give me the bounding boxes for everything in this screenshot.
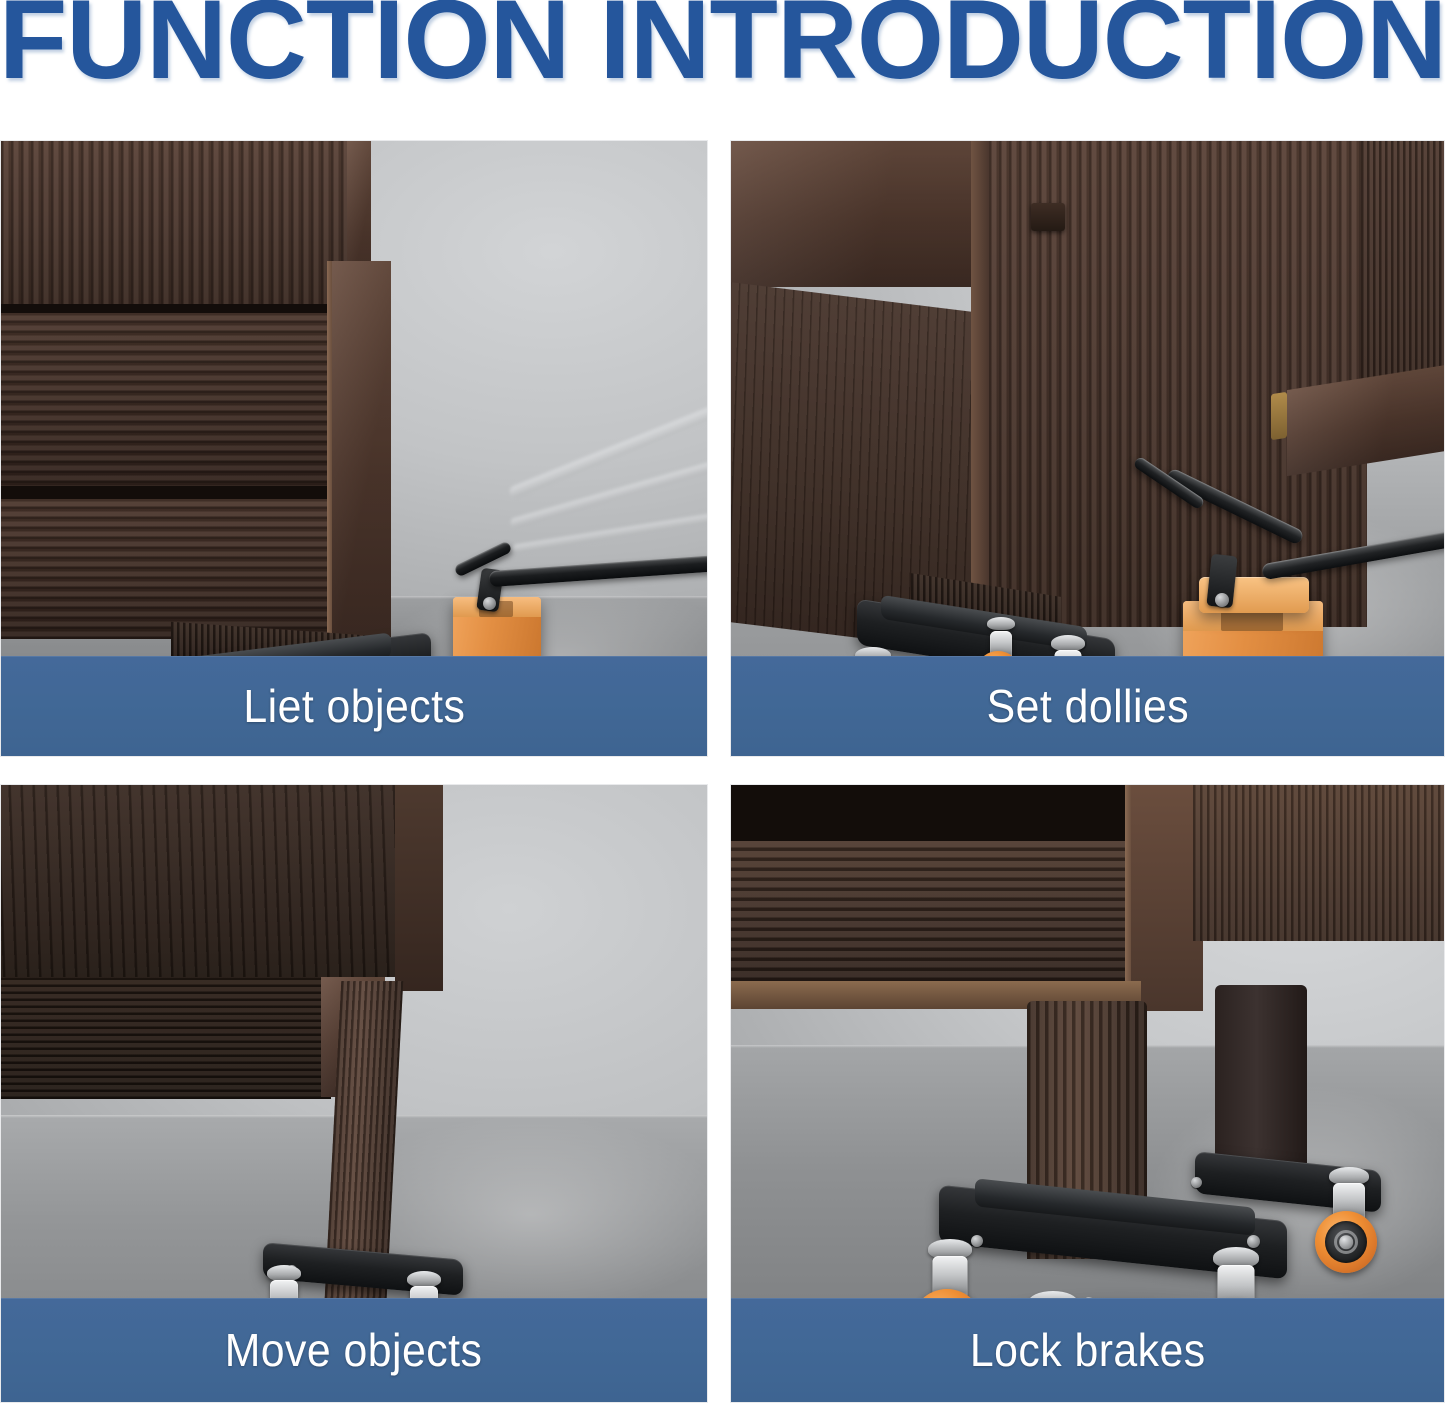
panel-set-dollies-caption: Set dollies (731, 656, 1444, 756)
cabinet-corner-edge (971, 141, 989, 633)
cabinet-right-edge (395, 785, 443, 991)
cabinet-brass-pull (1271, 392, 1287, 440)
cabinet-edge-highlight (1125, 785, 1131, 1013)
panel-move-objects[interactable]: Move objects (0, 784, 708, 1403)
pivot-bolt (483, 597, 496, 610)
caption-label: Lock brakes (970, 1323, 1206, 1377)
pivot-bolt (1215, 593, 1229, 607)
cabinet-top-panel (1, 785, 441, 977)
caption-label: Move objects (225, 1323, 483, 1377)
page-title: FUNCTION INTRODUCTION (0, 0, 1445, 96)
cabinet-drawer-lower (1, 499, 333, 639)
cabinet-corner-face (1129, 785, 1203, 1011)
caption-label: Liet objects (243, 679, 465, 733)
cabinet-apron-ribbed (1, 977, 331, 1099)
cabinet-top-panel (1, 141, 347, 309)
panel-grid: Liet objects (0, 140, 1445, 1403)
furniture-leg-rear (1215, 985, 1307, 1181)
panel-lift-objects[interactable]: Liet objects (0, 140, 708, 757)
cabinet-edge-highlight (327, 261, 332, 639)
cabinet-front-ribbed (731, 841, 1141, 991)
plate-screw (1191, 1177, 1202, 1188)
panel-lift-objects-caption: Liet objects (1, 656, 707, 756)
cabinet-right-face (1193, 785, 1444, 941)
cabinet-drawer-upper (1, 313, 329, 493)
cabinet-handle (1031, 203, 1065, 231)
caption-label: Set dollies (986, 679, 1188, 733)
cabinet-right-ribbed (1361, 141, 1444, 387)
panel-move-objects-caption: Move objects (1, 1298, 707, 1402)
page-header: FUNCTION INTRODUCTION (0, 0, 1445, 136)
panel-lock-brakes-caption: Lock brakes (731, 1298, 1444, 1402)
cabinet-left-top (731, 141, 989, 287)
panel-lock-brakes[interactable]: Lock brakes (730, 784, 1445, 1403)
caster-wheel (1313, 1173, 1385, 1277)
plate-screw (1247, 1235, 1260, 1248)
cabinet-side-panel (329, 261, 391, 639)
panel-set-dollies[interactable]: Set dollies (730, 140, 1445, 757)
